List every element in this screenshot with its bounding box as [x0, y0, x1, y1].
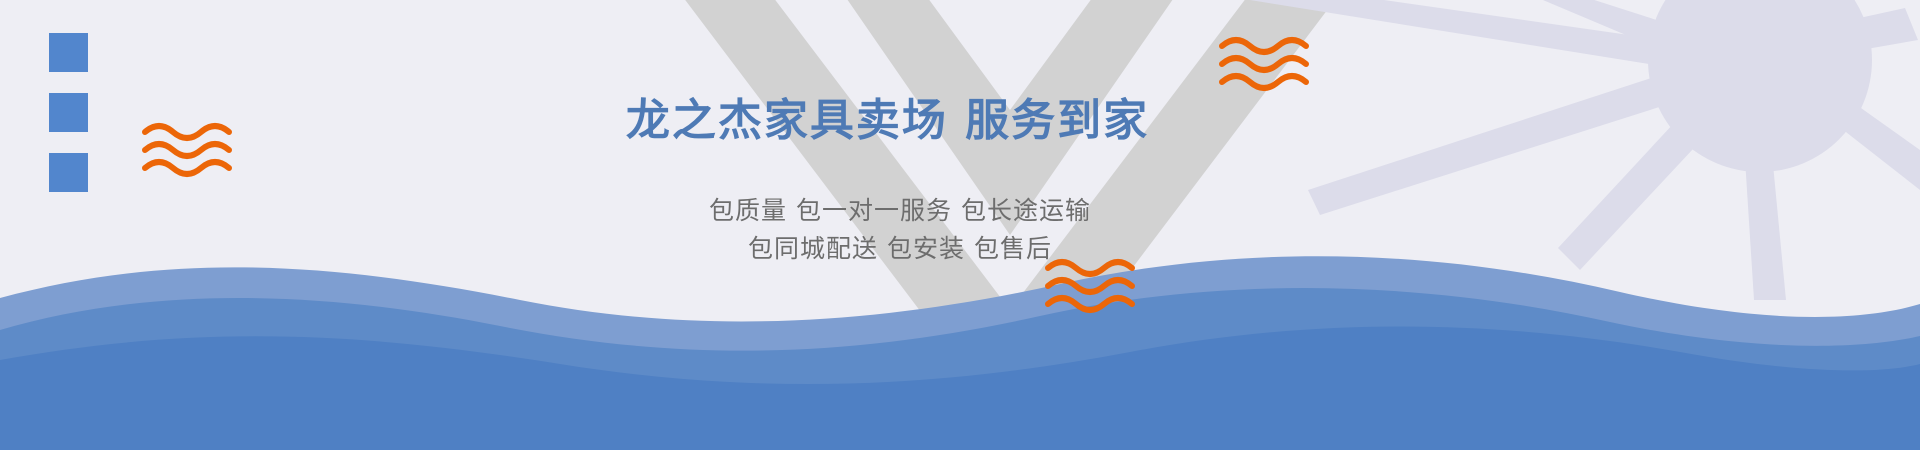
promo-banner: 龙之杰家具卖场 服务到家 包质量 包一对一服务 包长途运输 包同城配送 包安装 …	[0, 0, 1920, 450]
background-art	[0, 0, 1920, 450]
orange-wavy-lines-icon-left	[145, 126, 229, 174]
lavender-sun-rays-icon	[1250, 0, 1920, 300]
blue-square-1	[49, 33, 88, 72]
blue-square-2	[49, 93, 88, 132]
blue-square-3	[49, 153, 88, 192]
